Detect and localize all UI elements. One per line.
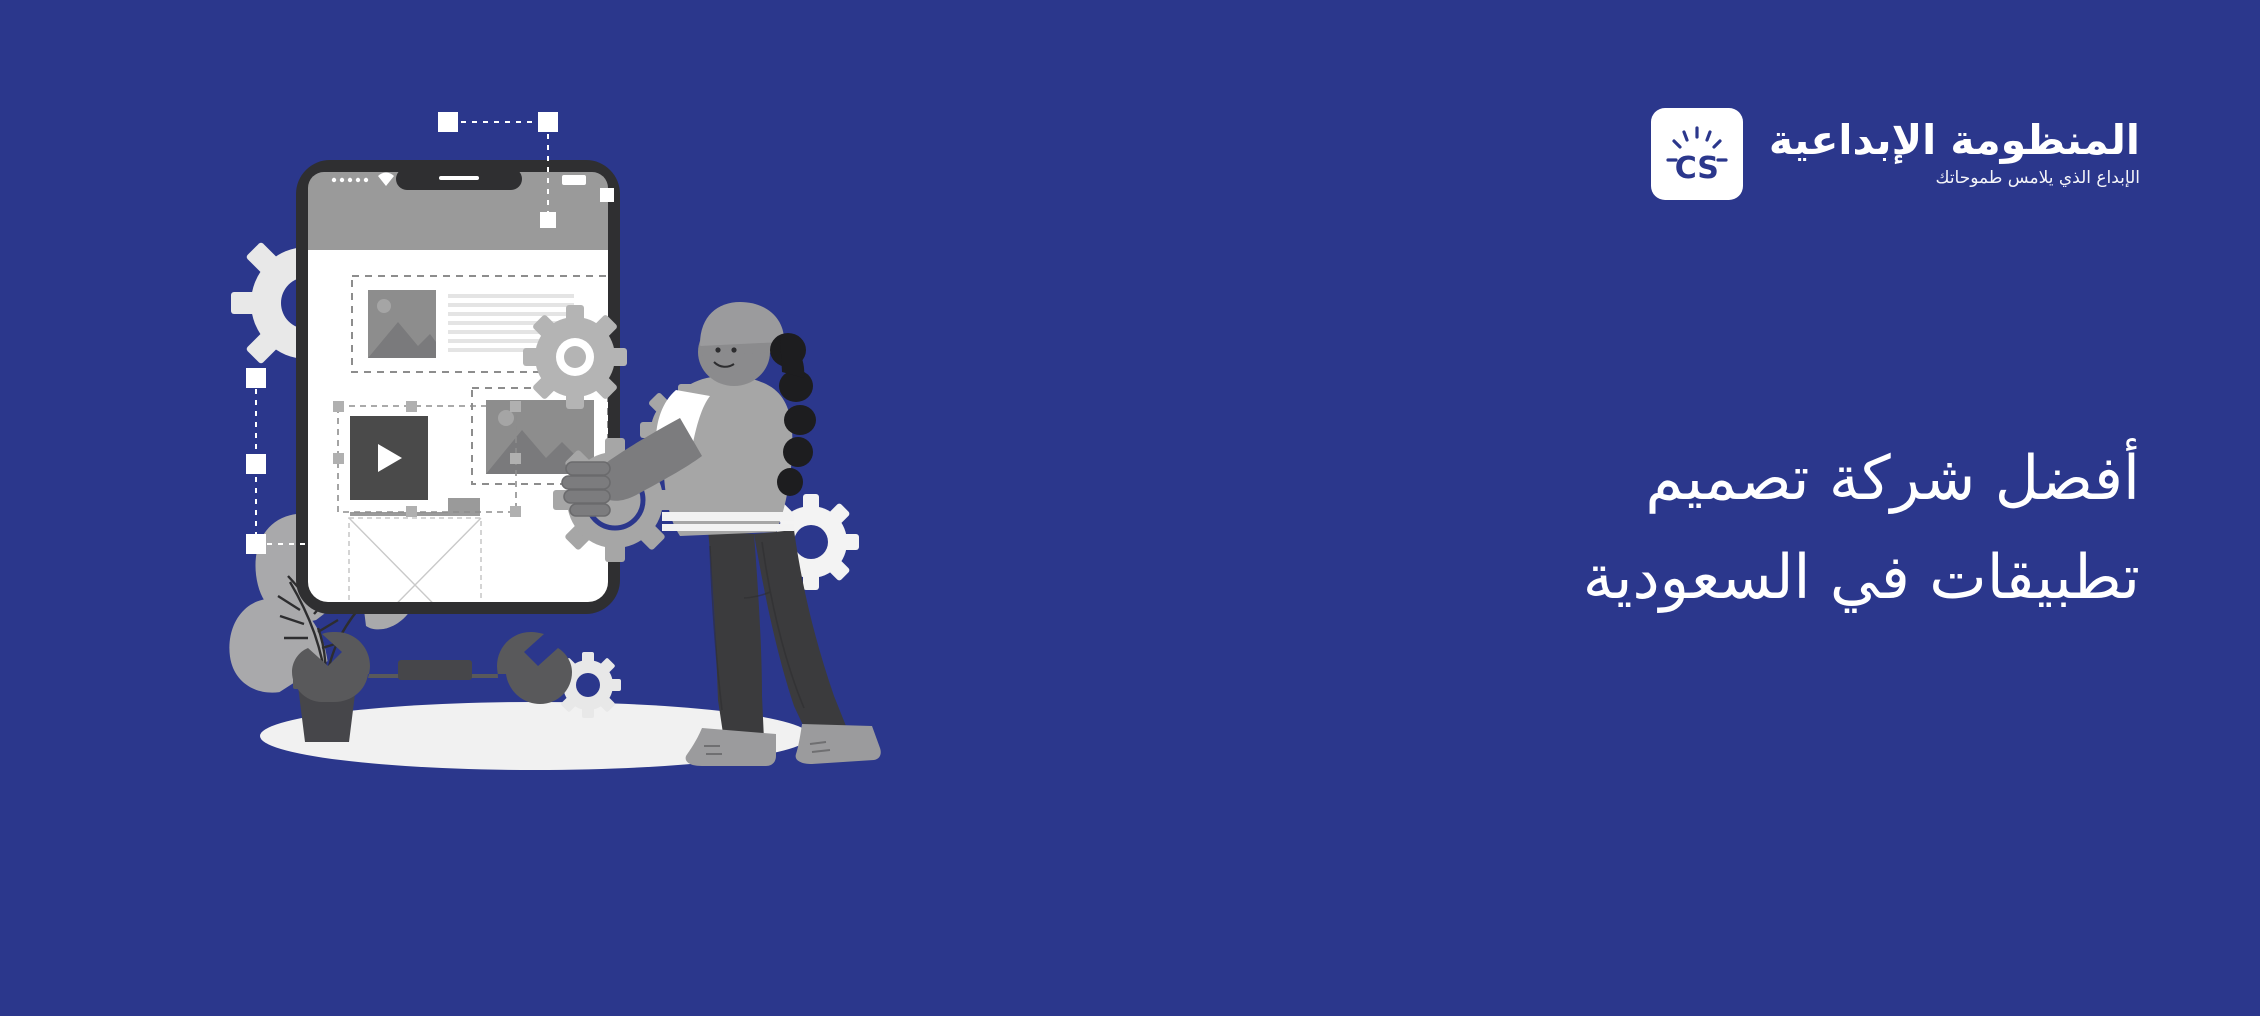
brand-logo-text: CS [1651, 151, 1743, 186]
promo-banner: المنظومة الإبداعية الإبداع الذي يلامس طم… [0, 0, 2260, 1016]
brand-lockup: المنظومة الإبداعية الإبداع الذي يلامس طم… [1651, 108, 2140, 200]
headline-line-2: تطبيقات في السعودية [1240, 529, 2140, 628]
wrench-icon [292, 632, 572, 704]
brand-tagline: الإبداع الذي يلامس طموحاتك [1769, 166, 2140, 192]
gear-settings-overlay [523, 305, 627, 409]
brand-name: المنظومة الإبداعية [1769, 116, 2140, 164]
brand-logo-mark: CS [1651, 108, 1743, 200]
page-title: أفضل شركة تصميم تطبيقات في السعودية [1240, 430, 2140, 628]
brand-text: المنظومة الإبداعية الإبداع الذي يلامس طم… [1769, 116, 2140, 192]
app-design-illustration [210, 100, 930, 800]
headline-line-1: أفضل شركة تصميم [1240, 430, 2140, 529]
